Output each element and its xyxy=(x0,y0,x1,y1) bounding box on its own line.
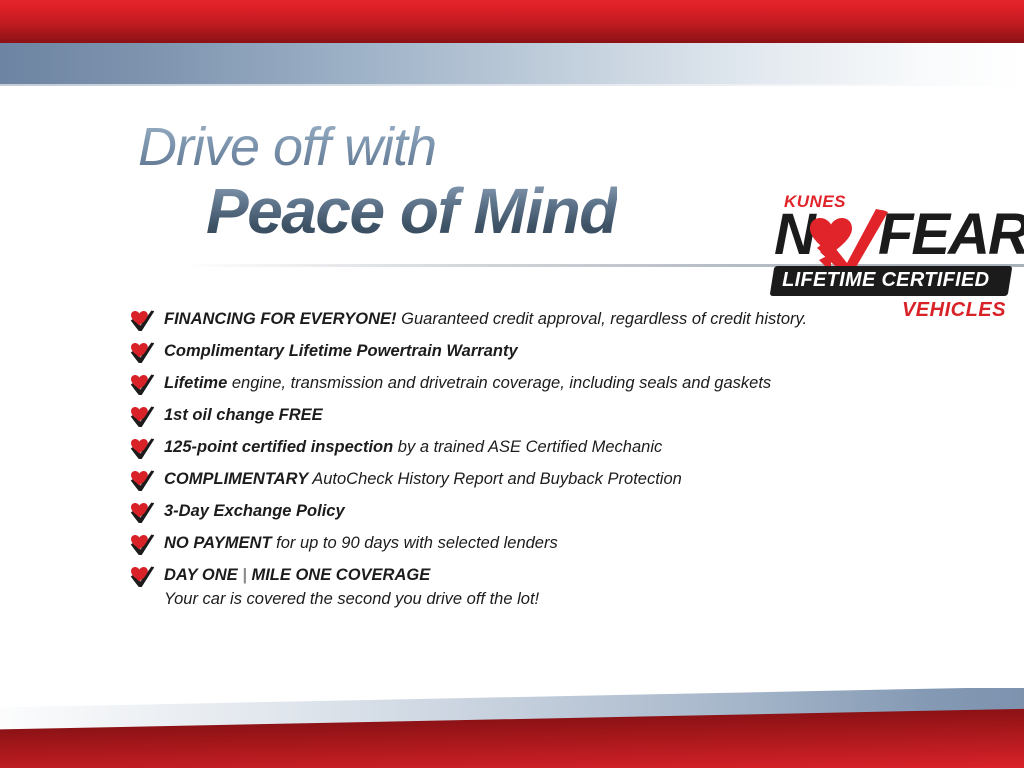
list-item-text: 125-point certified inspection by a trai… xyxy=(164,436,920,458)
top-red-band xyxy=(0,0,1024,43)
heart-check-icon xyxy=(806,208,888,274)
heart-check-bullet-icon xyxy=(130,406,156,428)
list-item: COMPLIMENTARY AutoCheck History Report a… xyxy=(130,468,920,500)
heart-check-bullet-icon xyxy=(130,342,156,364)
headline-line1: Drive off with xyxy=(138,120,617,174)
benefits-list: FINANCING FOR EVERYONE! Guaranteed credi… xyxy=(130,308,920,618)
list-item: 125-point certified inspection by a trai… xyxy=(130,436,920,468)
list-item-text: Lifetime engine, transmission and drivet… xyxy=(164,372,920,394)
list-item-text: DAY ONE | MILE ONE COVERAGE xyxy=(164,564,920,586)
list-item: NO PAYMENT for up to 90 days with select… xyxy=(130,532,920,564)
list-item: Complimentary Lifetime Powertrain Warran… xyxy=(130,340,920,372)
list-item-text: NO PAYMENT for up to 90 days with select… xyxy=(164,532,920,554)
heart-check-bullet-icon xyxy=(130,566,156,588)
top-gray-band xyxy=(0,43,1024,84)
list-item: 3-Day Exchange Policy xyxy=(130,500,920,532)
logo-certified-bar: LIFETIME CERTIFIED xyxy=(770,266,1013,296)
bottom-bands xyxy=(0,688,1024,768)
list-item-subtext: Your car is covered the second you drive… xyxy=(164,587,920,611)
list-item-text: 3-Day Exchange Policy xyxy=(164,500,920,522)
list-item-text: Complimentary Lifetime Powertrain Warran… xyxy=(164,340,920,362)
list-item-text: FINANCING FOR EVERYONE! Guaranteed credi… xyxy=(164,308,920,330)
list-item: FINANCING FOR EVERYONE! Guaranteed credi… xyxy=(130,308,920,340)
logo-word-fear: FEAR xyxy=(878,206,1024,264)
heart-check-bullet-icon xyxy=(130,310,156,332)
heart-check-bullet-icon xyxy=(130,470,156,492)
heart-check-bullet-icon xyxy=(130,502,156,524)
heart-check-bullet-icon xyxy=(130,374,156,396)
headline: Drive off with Peace of Mind xyxy=(138,120,617,244)
list-item-text: 1st oil change FREE xyxy=(164,404,920,426)
list-item-text: COMPLIMENTARY AutoCheck History Report a… xyxy=(164,468,920,490)
list-item: DAY ONE | MILE ONE COVERAGE Your car is … xyxy=(130,564,920,618)
heart-check-bullet-icon xyxy=(130,438,156,460)
promo-poster: Drive off with Peace of Mind KUNES N FEA… xyxy=(0,0,1024,768)
list-item: 1st oil change FREE xyxy=(130,404,920,436)
list-item: Lifetime engine, transmission and drivet… xyxy=(130,372,920,404)
logo-wordmark: N FEAR xyxy=(770,210,1012,272)
heart-check-bullet-icon xyxy=(130,534,156,556)
logo-certified-text: LIFETIME CERTIFIED xyxy=(782,269,989,292)
headline-line2: Peace of Mind xyxy=(206,178,617,244)
header-section: Drive off with Peace of Mind KUNES N FEA… xyxy=(0,84,1024,269)
